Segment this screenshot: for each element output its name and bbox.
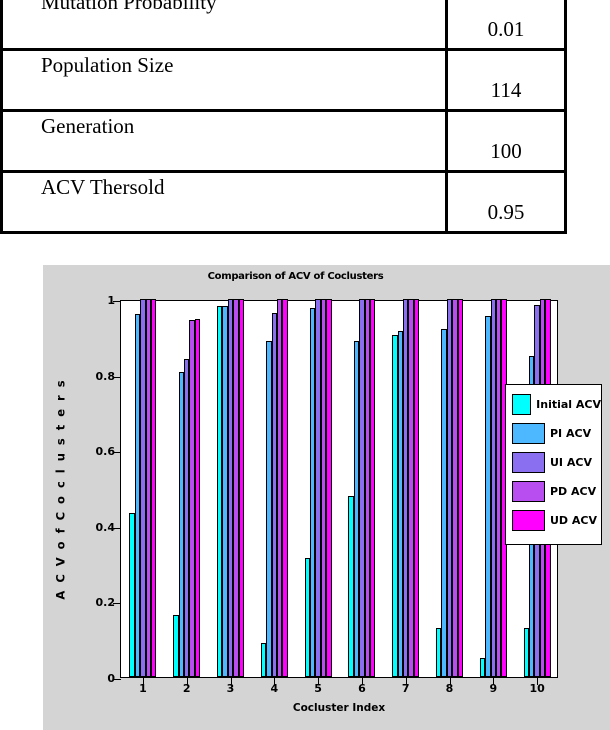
table-row: ACV Thersold 0.95: [2, 171, 566, 232]
legend-swatch: [512, 423, 545, 444]
bar: [414, 299, 419, 677]
chart-figure: Comparison of ACV of Coclusters A C V o …: [43, 265, 610, 730]
legend-item: UI ACV: [506, 448, 601, 477]
bar-group: [305, 301, 332, 677]
y-axis-title: A C V o f C o c l u s t e r s: [51, 300, 71, 678]
table-row: Generation 100: [2, 110, 566, 171]
x-tick-label: 4: [270, 682, 278, 695]
parameter-value-cell: 0.01: [447, 0, 566, 49]
y-axis-title-text: A C V o f C o c l u s t e r s: [54, 378, 68, 599]
x-tick-label: 8: [446, 682, 454, 695]
bars-layer: [121, 301, 557, 677]
x-tick-label: 9: [489, 682, 497, 695]
parameter-table: Mutation Probability 0.01 Population Siz…: [0, 0, 520, 234]
x-tick-label: 6: [358, 682, 366, 695]
parameter-value-cell: 114: [447, 49, 566, 110]
bar-group: [348, 301, 375, 677]
parameter-name-cell: Mutation Probability: [2, 0, 447, 49]
y-tick-label: 0.8: [96, 370, 116, 383]
y-tick-label: 0.2: [96, 597, 116, 610]
legend-item: UD ACV: [506, 506, 601, 535]
bar-group: [173, 301, 200, 677]
legend-swatch: [512, 394, 531, 415]
bar: [151, 299, 156, 677]
chart-title: Comparison of ACV of Coclusters: [43, 271, 548, 282]
legend-label: PI ACV: [550, 427, 591, 440]
y-tick-label: 0.4: [96, 521, 116, 534]
bar: [195, 319, 200, 677]
parameter-name-cell: Population Size: [2, 49, 447, 110]
bar-group: [217, 301, 244, 677]
legend-label: Initial ACV: [536, 398, 601, 411]
table-row: Mutation Probability 0.01: [2, 0, 566, 49]
plot-area: 1234567891000.20.40.60.81: [120, 300, 558, 678]
legend-item: PI ACV: [506, 419, 601, 448]
bar: [370, 299, 375, 677]
bar-group: [261, 301, 288, 677]
x-tick-label: 1: [139, 682, 147, 695]
bar: [282, 299, 287, 677]
bar-group: [129, 301, 156, 677]
x-tick-label: 2: [183, 682, 191, 695]
bar-group: [436, 301, 463, 677]
legend-swatch: [512, 510, 545, 531]
bar: [458, 299, 463, 677]
x-tick-label: 5: [314, 682, 322, 695]
parameter-name-cell: ACV Thersold: [2, 171, 447, 232]
y-tick-label: 0: [107, 672, 115, 685]
legend-swatch: [512, 452, 545, 473]
bar-group: [480, 301, 507, 677]
legend-item: Initial ACV: [506, 390, 601, 419]
bar: [239, 299, 244, 677]
table-row: Population Size 114: [2, 49, 566, 110]
bar: [326, 299, 331, 677]
parameter-table-grid: Mutation Probability 0.01 Population Siz…: [0, 0, 567, 234]
parameter-value-cell: 100: [447, 110, 566, 171]
x-tick-label: 10: [529, 682, 544, 695]
parameter-value-cell: 0.95: [447, 171, 566, 232]
x-tick-label: 7: [402, 682, 410, 695]
parameter-table-body: Mutation Probability 0.01 Population Siz…: [2, 0, 566, 232]
x-axis-title: Cocluster Index: [120, 702, 558, 714]
parameter-name-cell: Generation: [2, 110, 447, 171]
y-tick-label: 0.6: [96, 445, 116, 458]
legend-swatch: [512, 481, 545, 502]
chart-legend: Initial ACVPI ACVUI ACVPD ACVUD ACV: [505, 384, 602, 545]
legend-item: PD ACV: [506, 477, 601, 506]
legend-label: PD ACV: [550, 485, 596, 498]
x-tick-label: 3: [227, 682, 235, 695]
y-tick-label: 1: [107, 294, 115, 307]
bar-group: [392, 301, 419, 677]
legend-label: UD ACV: [550, 514, 597, 527]
legend-label: UI ACV: [550, 456, 592, 469]
